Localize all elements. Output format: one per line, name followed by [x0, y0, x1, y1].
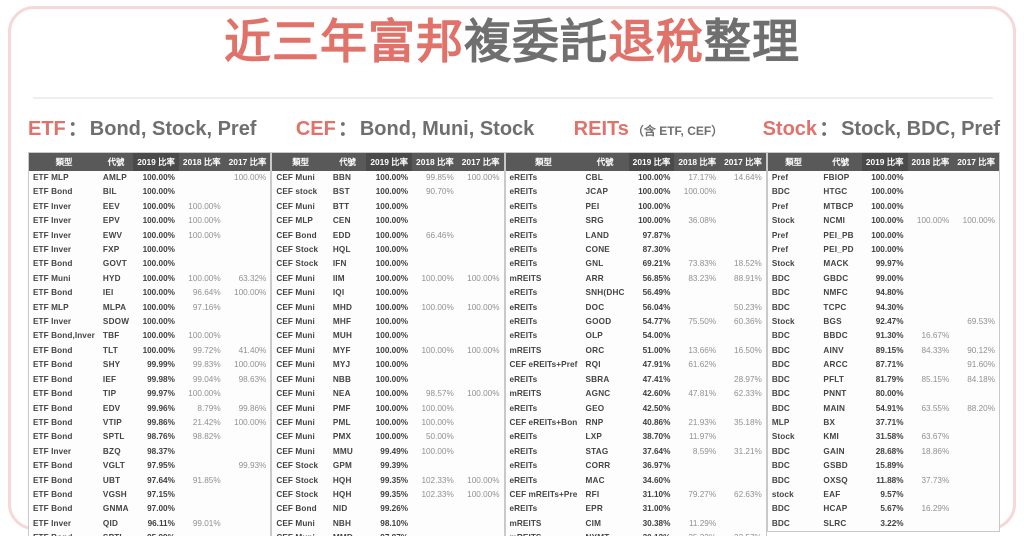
column-header-4[interactable]: 2017 比率: [225, 153, 271, 171]
cell-ratio-2017: [225, 243, 271, 257]
table-row: ETF BondGOVT100.00%: [29, 257, 270, 271]
cell-ratio-2019: 100.00%: [366, 185, 412, 199]
cell-ratio-2017: 88.91%: [720, 272, 766, 286]
column-header-1[interactable]: 代號: [99, 153, 133, 171]
cell-ratio-2017: [458, 459, 504, 473]
table-row: eREITsCONE87.30%: [506, 243, 766, 257]
cell-ratio-2019: 100.00%: [629, 214, 675, 228]
column-header-4[interactable]: 2017 比率: [720, 153, 766, 171]
table-row: ETF BondUBT97.64%91.85%: [29, 474, 270, 488]
cell-ratio-2019: 100.00%: [366, 329, 412, 343]
table-row: eREITsJCAP100.00%100.00%: [506, 185, 766, 199]
cell-ratio-2018: 100.00%: [412, 445, 458, 459]
cell-ratio-2018: 36.08%: [674, 214, 720, 228]
cell-ratio-2019: 42.60%: [629, 387, 675, 401]
legend-key: ETF: [28, 118, 66, 141]
cell-type: CEF Muni: [272, 430, 328, 444]
cell-ratio-2018: [908, 257, 954, 271]
table-row: CEF MuniPML100.00%100.00%: [272, 416, 503, 430]
cell-ratio-2019: 38.70%: [629, 430, 675, 444]
cell-ratio-2018: [908, 243, 954, 257]
cell-code: BTT: [329, 200, 367, 214]
cell-code: MTBCP: [819, 200, 861, 214]
cell-code: JCAP: [582, 185, 629, 199]
cell-ratio-2018: 98.82%: [179, 430, 225, 444]
title-seg-c: 退稅: [608, 15, 704, 68]
cell-type: BDC: [768, 301, 820, 315]
cell-type: CEF mREITs+Pre: [506, 488, 582, 502]
cell-ratio-2017: [953, 430, 999, 444]
table-row: CEF MuniPMX100.00%50.00%: [272, 430, 503, 444]
cell-ratio-2017: [953, 517, 999, 531]
cell-code: PMX: [329, 430, 367, 444]
cell-code: AINV: [819, 344, 861, 358]
cell-ratio-2019: 100.00%: [366, 373, 412, 387]
cell-type: ETF MLP: [29, 171, 99, 185]
table-row: eREITsEPR31.00%: [506, 502, 766, 516]
cell-ratio-2017: 50.23%: [720, 301, 766, 315]
cell-ratio-2017: [720, 358, 766, 372]
cell-type: Stock: [768, 257, 820, 271]
cell-ratio-2019: 92.47%: [862, 315, 908, 329]
cell-type: ETF Inver: [29, 214, 99, 228]
legend-key: Stock: [763, 118, 817, 141]
column-header-0[interactable]: 類型: [29, 153, 99, 171]
cell-type: CEF Muni: [272, 358, 328, 372]
cell-ratio-2017: [225, 474, 271, 488]
cell-type: ETF Muni: [29, 272, 99, 286]
cell-type: eREITs: [506, 315, 582, 329]
cell-ratio-2017: [458, 502, 504, 516]
cell-ratio-2018: 13.66%: [674, 344, 720, 358]
cell-type: BDC: [768, 502, 820, 516]
table-header-row: 類型代號2019 比率2018 比率2017 比率: [272, 153, 503, 171]
cell-code: MACK: [819, 257, 861, 271]
table-row: ETF BondVGLT97.95%99.93%: [29, 459, 270, 473]
cell-type: Pref: [768, 229, 820, 243]
table-row: BDCOXSQ11.88%37.73%: [768, 474, 999, 488]
cell-ratio-2018: 100.00%: [412, 416, 458, 430]
cell-type: CEF stock: [272, 185, 328, 199]
cell-ratio-2018: 98.57%: [412, 387, 458, 401]
cell-type: Stock: [768, 214, 820, 228]
cell-code: SNH(DHC: [582, 286, 629, 300]
table-row: BDCGSBD15.89%: [768, 459, 999, 473]
cell-ratio-2019: 99.97%: [862, 257, 908, 271]
cell-code: IEF: [99, 373, 133, 387]
cell-ratio-2019: 97.00%: [133, 502, 179, 516]
etf-table: 類型代號2019 比率2018 比率2017 比率ETF MLPAMLP100.…: [28, 152, 271, 536]
legend-key: REITs: [574, 118, 629, 141]
cell-ratio-2017: [458, 430, 504, 444]
table-row: eREITsSNH(DHC56.49%: [506, 286, 766, 300]
cell-ratio-2017: [225, 430, 271, 444]
cell-type: ETF Inver: [29, 517, 99, 531]
cell-type: eREITs: [506, 502, 582, 516]
column-header-2[interactable]: 2019 比率: [133, 153, 179, 171]
cell-ratio-2017: [953, 229, 999, 243]
cell-code: SPTI: [99, 531, 133, 536]
column-header-1[interactable]: 代號: [329, 153, 367, 171]
cell-code: BGS: [819, 315, 861, 329]
cell-ratio-2019: 99.35%: [366, 474, 412, 488]
cell-type: eREITs: [506, 257, 582, 271]
cell-type: BDC: [768, 272, 820, 286]
cell-type: BDC: [768, 286, 820, 300]
cell-ratio-2017: [953, 329, 999, 343]
column-header-2[interactable]: 2019 比率: [629, 153, 675, 171]
cell-ratio-2017: 100.00%: [225, 358, 271, 372]
cell-ratio-2019: 98.10%: [366, 517, 412, 531]
cell-ratio-2018: [908, 185, 954, 199]
cell-ratio-2019: 100.00%: [366, 257, 412, 271]
column-header-0[interactable]: 類型: [506, 153, 582, 171]
cell-code: STAG: [582, 445, 629, 459]
cell-ratio-2018: [412, 200, 458, 214]
cell-ratio-2017: [953, 502, 999, 516]
cell-ratio-2017: [953, 272, 999, 286]
cell-ratio-2017: 62.63%: [720, 488, 766, 502]
cell-ratio-2018: 100.00%: [179, 214, 225, 228]
legend-item-cef: CEF：Bond, Muni, Stock: [296, 112, 534, 141]
table-row: CEF mREITs+PreRFI31.10%79.27%62.63%: [506, 488, 766, 502]
cell-code: AMLP: [99, 171, 133, 185]
cell-ratio-2018: [412, 502, 458, 516]
table-row: eREITsCORR36.97%: [506, 459, 766, 473]
cell-code: PNNT: [819, 387, 861, 401]
cell-type: ETF Inver: [29, 229, 99, 243]
cell-ratio-2019: 100.00%: [366, 214, 412, 228]
cell-ratio-2019: 99.35%: [366, 488, 412, 502]
cell-ratio-2017: [225, 502, 271, 516]
column-header-0[interactable]: 類型: [272, 153, 328, 171]
cell-ratio-2017: 63.32%: [225, 272, 271, 286]
cell-ratio-2018: 102.33%: [412, 474, 458, 488]
column-header-0[interactable]: 類型: [768, 153, 820, 171]
cell-ratio-2017: 18.52%: [720, 257, 766, 271]
cell-code: VGSH: [99, 488, 133, 502]
cell-ratio-2017: [458, 257, 504, 271]
cell-code: MAC: [582, 474, 629, 488]
cell-ratio-2017: [720, 502, 766, 516]
cell-ratio-2019: 100.00%: [862, 229, 908, 243]
cell-ratio-2019: 47.41%: [629, 373, 675, 387]
cell-ratio-2018: 47.81%: [674, 387, 720, 401]
cell-ratio-2018: 97.16%: [179, 301, 225, 315]
cell-ratio-2017: [953, 445, 999, 459]
cell-ratio-2019: 99.26%: [366, 502, 412, 516]
cell-type: ETF Bond: [29, 488, 99, 502]
cell-code: VTIP: [99, 416, 133, 430]
cell-ratio-2017: [953, 416, 999, 430]
table-row: StockKMI31.58%63.67%: [768, 430, 999, 444]
cell-ratio-2019: 100.00%: [629, 185, 675, 199]
cell-ratio-2017: [225, 257, 271, 271]
legend-separator: ：: [66, 112, 90, 141]
cell-ratio-2018: 100.00%: [179, 272, 225, 286]
cell-ratio-2017: [458, 358, 504, 372]
cell-code: AGNC: [582, 387, 629, 401]
cell-type: eREITs: [506, 445, 582, 459]
cell-ratio-2017: [458, 402, 504, 416]
cell-ratio-2017: 100.00%: [458, 301, 504, 315]
cell-ratio-2017: [720, 200, 766, 214]
cell-ratio-2019: 56.85%: [629, 272, 675, 286]
page-title: 近三年富邦複委託退稅整理: [0, 16, 1024, 69]
cell-ratio-2018: 100.00%: [412, 301, 458, 315]
cell-ratio-2018: [674, 373, 720, 387]
table-row: CEF MuniBTT100.00%: [272, 200, 503, 214]
cell-ratio-2018: 35.32%: [674, 531, 720, 536]
cell-type: ETF Bond: [29, 387, 99, 401]
table-row: CEF MuniBBN100.00%99.85%100.00%: [272, 171, 503, 185]
cell-code: MAIN: [819, 402, 861, 416]
cell-ratio-2017: [953, 459, 999, 473]
cell-code: SRG: [582, 214, 629, 228]
cell-code: HQH: [329, 474, 367, 488]
cell-ratio-2018: 96.64%: [179, 286, 225, 300]
cell-ratio-2019: 97.87%: [366, 531, 412, 536]
table-row: CEF MuniMYF100.00%100.00%100.00%: [272, 344, 503, 358]
column-header-4[interactable]: 2017 比率: [458, 153, 504, 171]
cell-ratio-2017: 16.50%: [720, 344, 766, 358]
cell-code: GNL: [582, 257, 629, 271]
table-row: eREITsDOC56.04%50.23%: [506, 301, 766, 315]
cell-code: SPTL: [99, 430, 133, 444]
table-row: ETF InverEPV100.00%100.00%: [29, 214, 270, 228]
cell-code: NCMI: [819, 214, 861, 228]
cell-type: CEF Muni: [272, 286, 328, 300]
table-row: BDCGAIN28.68%18.86%: [768, 445, 999, 459]
cell-ratio-2017: [458, 531, 504, 536]
cell-ratio-2019: 100.00%: [366, 286, 412, 300]
cell-type: eREITs: [506, 214, 582, 228]
column-header-1[interactable]: 代號: [582, 153, 629, 171]
cell-ratio-2018: [908, 171, 954, 185]
legend-separator: ：: [817, 112, 841, 141]
cell-code: TLT: [99, 344, 133, 358]
cell-ratio-2019: 100.00%: [366, 344, 412, 358]
table-row: ETF BondEDV99.96%8.79%99.86%: [29, 402, 270, 416]
cell-type: mREITS: [506, 531, 582, 536]
table-row: eREITsSRG100.00%36.08%: [506, 214, 766, 228]
table-row: ETF InverEWV100.00%100.00%: [29, 229, 270, 243]
cell-type: ETF Bond: [29, 474, 99, 488]
cell-code: SDOW: [99, 315, 133, 329]
cell-ratio-2019: 56.49%: [629, 286, 675, 300]
cell-type: CEF Muni: [272, 272, 328, 286]
cell-type: ETF Bond: [29, 416, 99, 430]
cell-ratio-2019: 100.00%: [133, 243, 179, 257]
legend-value: Bond, Muni, Stock: [360, 118, 534, 141]
cell-code: HQH: [329, 488, 367, 502]
cell-code: MUH: [329, 329, 367, 343]
cell-ratio-2017: [225, 531, 271, 536]
cell-ratio-2017: [720, 474, 766, 488]
cell-ratio-2017: [225, 315, 271, 329]
column-header-3[interactable]: 2018 比率: [179, 153, 225, 171]
cell-code: KMI: [819, 430, 861, 444]
cell-ratio-2019: 98.37%: [133, 445, 179, 459]
cell-ratio-2019: 54.77%: [629, 315, 675, 329]
cell-ratio-2018: [908, 200, 954, 214]
table-row: CEF MuniIQI100.00%: [272, 286, 503, 300]
cell-ratio-2019: 100.00%: [862, 214, 908, 228]
column-header-2[interactable]: 2019 比率: [862, 153, 908, 171]
cell-type: CEF Stock: [272, 257, 328, 271]
stock-table: 類型代號2019 比率2018 比率2017 比率PrefFBIOP100.00…: [767, 152, 1000, 532]
cell-ratio-2017: 69.53%: [953, 315, 999, 329]
cell-code: MHF: [329, 315, 367, 329]
cell-type: mREITS: [506, 344, 582, 358]
cell-ratio-2018: 83.23%: [674, 272, 720, 286]
cell-ratio-2017: [458, 329, 504, 343]
table-row: CEF BondEDD100.00%66.46%: [272, 229, 503, 243]
cell-code: GSBD: [819, 459, 861, 473]
table-row: ETF InverBZQ98.37%: [29, 445, 270, 459]
cell-ratio-2017: 99.86%: [225, 402, 271, 416]
cell-ratio-2018: 99.04%: [179, 373, 225, 387]
table-row: ETF MLPAMLP100.00%100.00%: [29, 171, 270, 185]
table-row: eREITsSBRA47.41%28.97%: [506, 373, 766, 387]
cell-ratio-2017: 100.00%: [225, 286, 271, 300]
column-header-4[interactable]: 2017 比率: [953, 153, 999, 171]
cell-ratio-2019: 28.68%: [862, 445, 908, 459]
cell-code: LXP: [582, 430, 629, 444]
legend-bar: ETF：Bond, Stock, PrefCEF：Bond, Muni, Sto…: [28, 112, 1000, 141]
cell-ratio-2019: 100.00%: [862, 243, 908, 257]
cell-code: TCPC: [819, 301, 861, 315]
cell-type: CEF MLP: [272, 214, 328, 228]
cell-type: eREITs: [506, 402, 582, 416]
cell-code: HTGC: [819, 185, 861, 199]
cell-ratio-2017: 31.21%: [720, 445, 766, 459]
cell-ratio-2017: 100.00%: [225, 171, 271, 185]
cell-ratio-2018: 102.33%: [412, 488, 458, 502]
table-header-row: 類型代號2019 比率2018 比率2017 比率: [506, 153, 766, 171]
cell-ratio-2019: 100.00%: [366, 229, 412, 243]
cell-code: PEI_PD: [819, 243, 861, 257]
cell-type: ETF Inver: [29, 200, 99, 214]
column-header-3[interactable]: 2018 比率: [908, 153, 954, 171]
cell-ratio-2019: 54.91%: [862, 402, 908, 416]
cell-ratio-2017: 62.33%: [720, 387, 766, 401]
cell-ratio-2018: 100.00%: [412, 344, 458, 358]
cell-ratio-2019: 97.15%: [133, 488, 179, 502]
table-row: CEF StockIFN100.00%: [272, 257, 503, 271]
cell-ratio-2019: 97.64%: [133, 474, 179, 488]
cell-code: TBF: [99, 329, 133, 343]
cell-type: mREITS: [506, 387, 582, 401]
cell-ratio-2019: 47.91%: [629, 358, 675, 372]
table-row: BDCMAIN54.91%63.55%88.20%: [768, 402, 999, 416]
cell-code: DOC: [582, 301, 629, 315]
cell-ratio-2019: 30.38%: [629, 517, 675, 531]
cell-type: eREITs: [506, 329, 582, 343]
column-header-2[interactable]: 2019 比率: [366, 153, 412, 171]
cell-ratio-2019: 100.00%: [366, 402, 412, 416]
cell-ratio-2017: [458, 286, 504, 300]
cell-ratio-2018: [674, 243, 720, 257]
cell-type: CEF Bond: [272, 502, 328, 516]
cell-ratio-2018: 8.79%: [179, 402, 225, 416]
title-seg-a: 近三年富邦: [224, 15, 464, 68]
cell-ratio-2019: 69.21%: [629, 257, 675, 271]
cell-ratio-2017: 100.00%: [458, 344, 504, 358]
table-row: ETF InverQID96.11%99.01%: [29, 517, 270, 531]
cell-ratio-2019: 56.04%: [629, 301, 675, 315]
cell-ratio-2017: [225, 301, 271, 315]
cell-ratio-2017: [225, 488, 271, 502]
cell-ratio-2017: [225, 200, 271, 214]
cell-type: BDC: [768, 344, 820, 358]
cell-ratio-2017: [953, 200, 999, 214]
cell-ratio-2018: 50.00%: [412, 430, 458, 444]
cell-ratio-2018: [908, 272, 954, 286]
cell-ratio-2018: 21.42%: [179, 416, 225, 430]
cell-ratio-2017: [458, 200, 504, 214]
table-row: StockNCMI100.00%100.00%100.00%: [768, 214, 999, 228]
cell-ratio-2017: [720, 243, 766, 257]
cell-ratio-2019: 100.00%: [862, 200, 908, 214]
cell-code: MLPA: [99, 301, 133, 315]
cell-type: eREITs: [506, 243, 582, 257]
table-row: ETF BondIEF99.98%99.04%98.63%: [29, 373, 270, 387]
cell-ratio-2017: 100.00%: [458, 488, 504, 502]
cell-ratio-2017: 100.00%: [953, 214, 999, 228]
cell-ratio-2017: [720, 229, 766, 243]
cell-ratio-2018: 8.59%: [674, 445, 720, 459]
cell-type: Pref: [768, 200, 820, 214]
cell-type: eREITs: [506, 200, 582, 214]
cell-ratio-2018: 99.72%: [179, 344, 225, 358]
table-row: CEF stockBST100.00%90.70%: [272, 185, 503, 199]
table-row: CEF MuniPMF100.00%100.00%: [272, 402, 503, 416]
column-header-3[interactable]: 2018 比率: [674, 153, 720, 171]
cell-ratio-2017: [720, 402, 766, 416]
cell-ratio-2017: 14.64%: [720, 171, 766, 185]
table-row: stockEAF9.57%: [768, 488, 999, 502]
cell-code: HQL: [329, 243, 367, 257]
cell-ratio-2017: [953, 474, 999, 488]
cell-type: CEF Muni: [272, 387, 328, 401]
cell-ratio-2018: 66.46%: [412, 229, 458, 243]
cell-type: CEF Stock: [272, 474, 328, 488]
cell-ratio-2018: [908, 459, 954, 473]
table-row: ETF BondVTIP99.86%21.42%100.00%: [29, 416, 270, 430]
table-row: eREITsPEI100.00%: [506, 200, 766, 214]
column-header-3[interactable]: 2018 比率: [412, 153, 458, 171]
cell-code: IFN: [329, 257, 367, 271]
cell-ratio-2017: 100.00%: [458, 387, 504, 401]
cell-ratio-2019: 99.49%: [366, 445, 412, 459]
cell-ratio-2019: 36.97%: [629, 459, 675, 473]
cell-ratio-2018: [179, 488, 225, 502]
cell-code: EAF: [819, 488, 861, 502]
cell-ratio-2018: [908, 488, 954, 502]
cell-code: BST: [329, 185, 367, 199]
cell-ratio-2019: 100.00%: [133, 200, 179, 214]
cell-ratio-2019: 100.00%: [366, 272, 412, 286]
cell-ratio-2018: [179, 459, 225, 473]
cell-ratio-2019: 100.00%: [366, 315, 412, 329]
column-header-1[interactable]: 代號: [819, 153, 861, 171]
legend-key: CEF: [296, 118, 336, 141]
table-row: CEF MuniMMU99.49%100.00%: [272, 445, 503, 459]
cell-code: ORC: [582, 344, 629, 358]
cell-code: NMFC: [819, 286, 861, 300]
table-row: eREITsGEO42.50%: [506, 402, 766, 416]
